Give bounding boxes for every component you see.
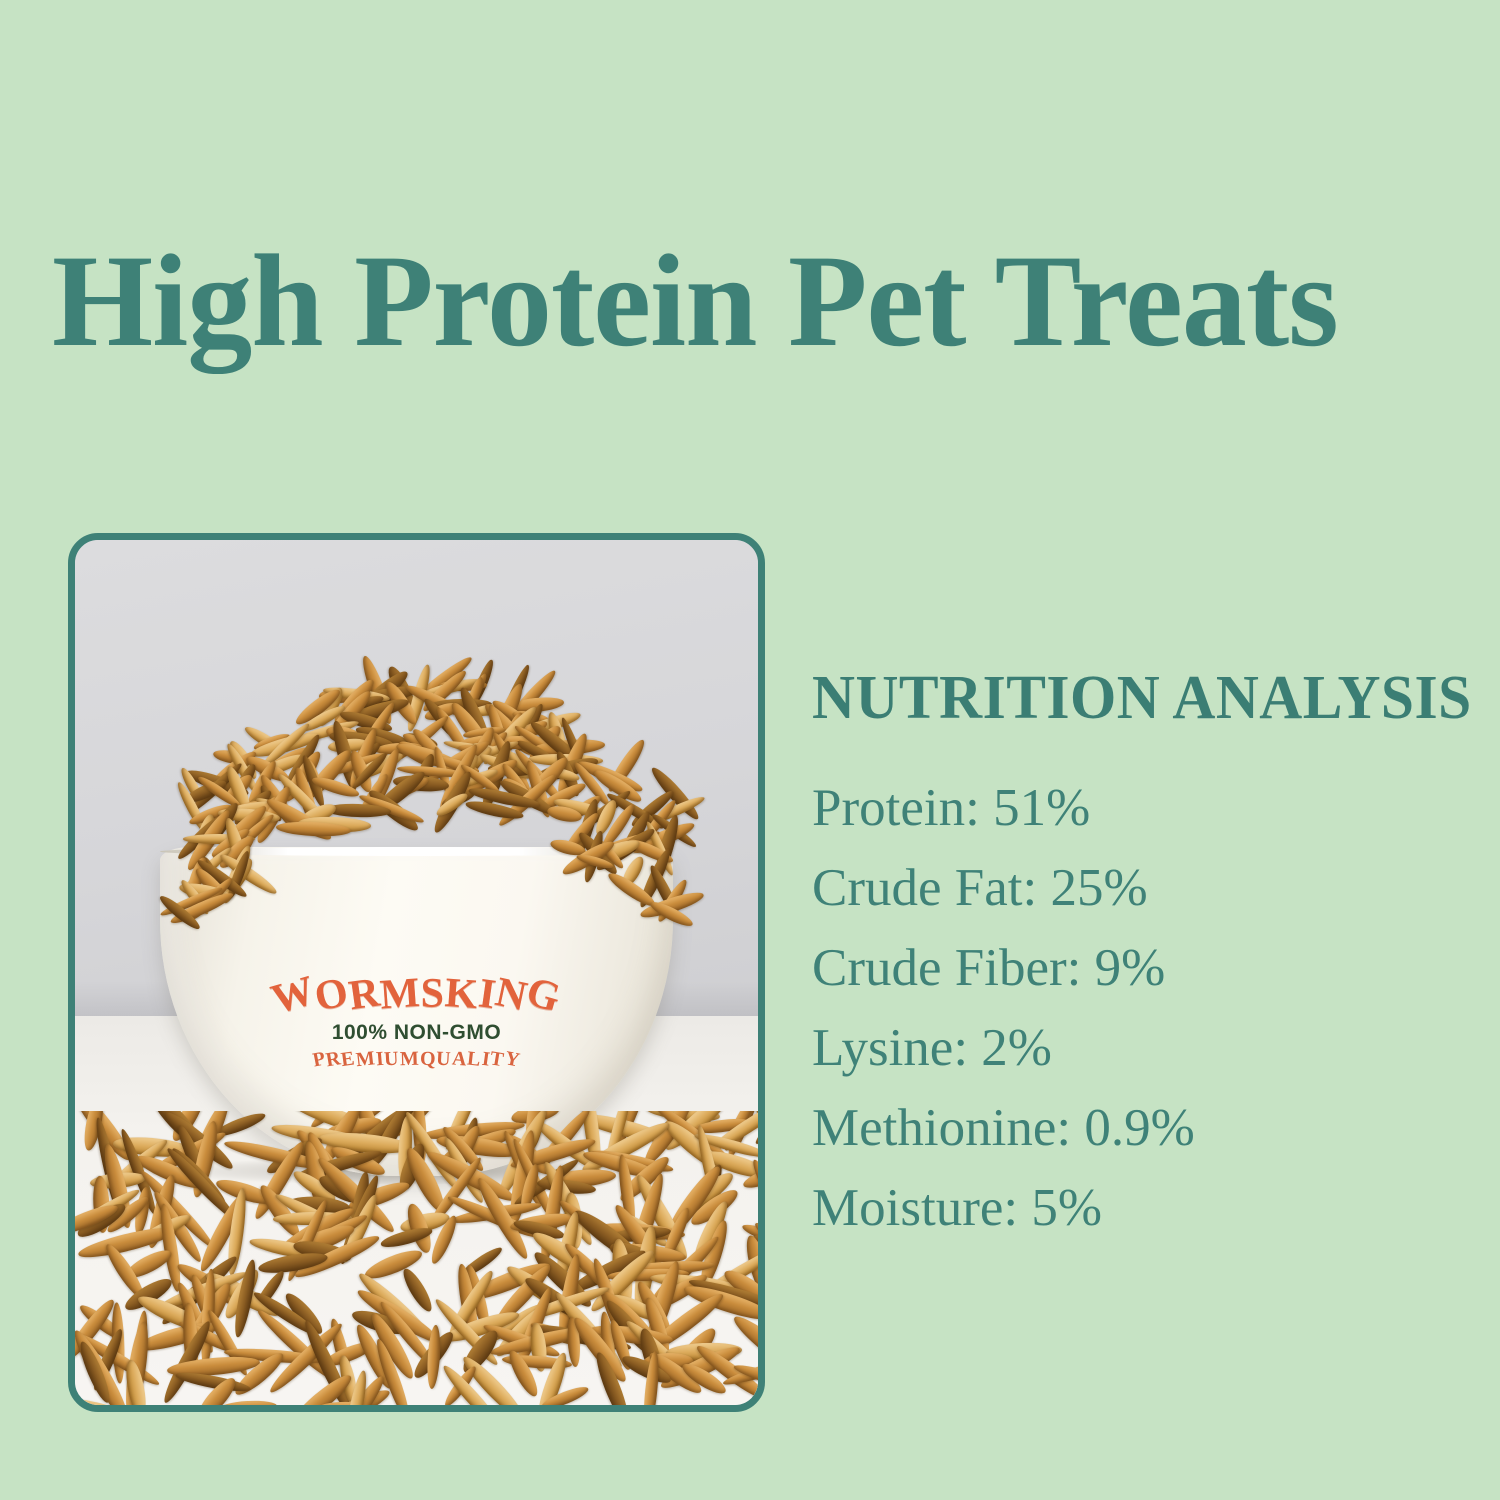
product-photo-frame: WORMSKING 100% NON-GMO PREMIUM QUALITY xyxy=(68,533,765,1412)
nutrition-row: Crude Fat: 25% xyxy=(812,848,1452,928)
page-title: High Protein Pet Treats xyxy=(52,226,1441,376)
nutrition-row: Lysine: 2% xyxy=(812,1008,1452,1088)
nutrition-row: Methionine: 0.9% xyxy=(812,1088,1452,1168)
nutrition-row: Crude Fiber: 9% xyxy=(812,928,1452,1008)
larva xyxy=(218,1399,277,1405)
nutrition-row: Moisture: 5% xyxy=(812,1168,1452,1248)
product-photo: WORMSKING 100% NON-GMO PREMIUM QUALITY xyxy=(75,540,758,1405)
nutrition-analysis-heading: NUTRITION ANALYSIS xyxy=(812,663,1472,733)
nutrition-row: Protein: 51% xyxy=(812,768,1452,848)
scattered-mealworms xyxy=(75,1111,758,1405)
nutrition-analysis-list: Protein: 51%Crude Fat: 25%Crude Fiber: 9… xyxy=(812,768,1452,1248)
larvae-pile xyxy=(171,670,670,895)
product-infographic: High Protein Pet Treats WORMSKING 100% N… xyxy=(0,0,1500,1500)
